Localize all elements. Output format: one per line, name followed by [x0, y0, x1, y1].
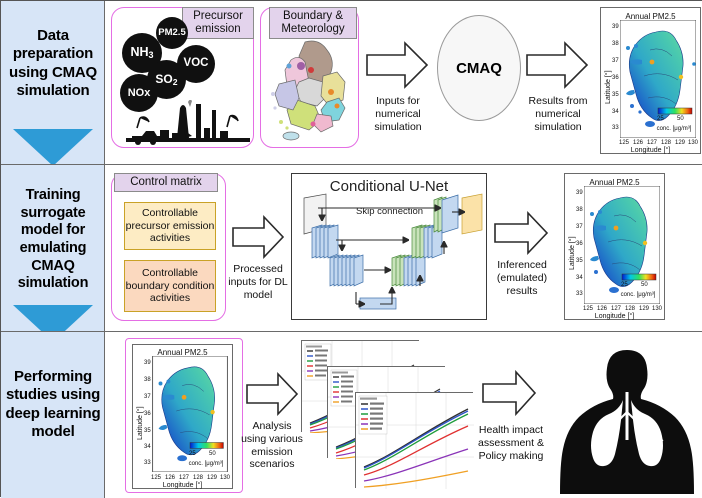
arrow-processed-inputs — [231, 215, 285, 259]
pm25-map-chart-row2: Annual PM2.5 concentration Latitude [°] … — [564, 173, 665, 320]
x-tick: 129 — [207, 475, 217, 481]
workflow-figure: Data preparation using CMAQ simulation P… — [0, 0, 702, 497]
row-performing-studies: Performing studies using deep learning m… — [1, 331, 702, 498]
colorbar-caption: conc. [μg/m³] — [183, 461, 229, 467]
control-box-precursor-label: Controllable precursor emission activiti… — [125, 207, 215, 245]
arrow-inferenced-results — [493, 211, 549, 255]
pm25-map-chart-row1: Annual PM2.5 concentration Latitude [°] … — [600, 7, 701, 154]
y-tick: 34 — [144, 444, 151, 450]
colorbar-tick: 50 — [641, 282, 648, 288]
stage-2-label: Training surrogate model for emulating C… — [1, 187, 105, 293]
y-tick: 33 — [576, 291, 583, 297]
arrow-results-from-cmaq — [525, 41, 589, 89]
y-tick: 39 — [576, 190, 583, 196]
arrow-inputs-label: Inputs for numerical simulation — [357, 95, 439, 133]
stage-column-1: Data preparation using CMAQ simulation — [1, 1, 105, 164]
y-tick: 37 — [144, 394, 151, 400]
x-tick: 129 — [675, 140, 685, 146]
y-tick: 34 — [576, 275, 583, 281]
row-1-content: Precursor emission NH3 PM2.5 VOC SO2 NOx — [105, 1, 702, 164]
stage-1-label: Data preparation using CMAQ simulation — [1, 27, 105, 100]
chart-x-axis-label: Longitude [°] — [565, 313, 664, 320]
stage-arrow-down-1 — [13, 129, 93, 166]
control-box-boundary: Controllable boundary condition activiti… — [124, 260, 216, 312]
x-tick: 126 — [633, 140, 643, 146]
conditional-unet-panel: Conditional U-Net Skip connection — [291, 173, 487, 320]
x-tick: 130 — [652, 306, 662, 312]
row-3-content: Annual PM2.5 concentration Latitude [°] … — [105, 332, 702, 498]
x-tick: 125 — [619, 140, 629, 146]
colorbar-caption: conc. [μg/m³] — [615, 292, 661, 298]
arrow-analysis-scenarios — [245, 372, 299, 416]
scenario-lines-front — [356, 393, 474, 489]
human-lungs-silhouette-icon — [557, 344, 697, 494]
y-tick: 39 — [612, 24, 619, 30]
chart-y-axis-label: Latitude [°] — [605, 70, 612, 104]
stage-column-2: Training surrogate model for emulating C… — [1, 165, 105, 331]
y-tick: 33 — [612, 125, 619, 131]
arrow-inputs-to-cmaq — [365, 41, 429, 89]
chart-x-axis-label: Longitude [°] — [601, 147, 700, 154]
chart-y-axis-label: Latitude [°] — [137, 406, 144, 440]
arrow-analysis-label: Analysis using various emission scenario… — [239, 420, 305, 471]
cmaq-model-node: CMAQ — [437, 15, 521, 121]
species-label-pm25: PM2.5 — [158, 28, 185, 38]
control-matrix-panel: Control matrix Controllable precursor em… — [111, 173, 226, 321]
y-tick: 33 — [144, 460, 151, 466]
row-data-preparation: Data preparation using CMAQ simulation P… — [1, 1, 702, 164]
y-tick: 37 — [612, 58, 619, 64]
species-label-nox: NOx — [128, 88, 151, 99]
x-tick: 127 — [611, 306, 621, 312]
y-tick: 35 — [612, 92, 619, 98]
x-tick: 127 — [179, 475, 189, 481]
species-bubble-pm25: PM2.5 — [156, 17, 188, 49]
species-label-voc: VOC — [184, 58, 209, 70]
colorbar-tick: 25 — [621, 282, 628, 288]
y-tick: 36 — [576, 241, 583, 247]
chart-y-axis-label: Latitude [°] — [569, 236, 576, 270]
boundary-meteorology-tag: Boundary & Meteorology — [269, 7, 357, 39]
x-tick: 128 — [661, 140, 671, 146]
colorbar-tick: 50 — [677, 116, 684, 122]
species-label-nh3: NH3 — [130, 46, 153, 60]
arrow-health-impact-label: Health impact assessment & Policy making — [475, 424, 547, 462]
colorbar-tick: 25 — [189, 451, 196, 457]
arrow-inferenced-results-label: Inferenced (emulated) results — [487, 259, 557, 297]
x-tick: 127 — [647, 140, 657, 146]
y-tick: 35 — [144, 428, 151, 434]
arrow-health-impact — [481, 370, 537, 416]
stage-3-label: Performing studies using deep learning m… — [1, 368, 105, 441]
y-tick: 34 — [612, 109, 619, 115]
control-matrix-tag: Control matrix — [114, 173, 218, 192]
industry-silhouette-icon — [126, 100, 250, 146]
korea-admin-region-map — [265, 36, 355, 144]
arrow-results-label: Results from numerical simulation — [517, 95, 599, 133]
x-tick: 126 — [597, 306, 607, 312]
precursor-emission-panel: Precursor emission NH3 PM2.5 VOC SO2 NOx — [111, 7, 254, 148]
species-label-so2: SO2 — [155, 73, 177, 87]
y-tick: 39 — [144, 360, 151, 366]
y-tick: 35 — [576, 258, 583, 264]
scenario-chart-front — [355, 392, 473, 488]
row-training-surrogate: Training surrogate model for emulating C… — [1, 164, 702, 331]
y-tick: 36 — [612, 75, 619, 81]
precursor-emission-tag: Precursor emission — [182, 7, 254, 39]
x-tick: 125 — [151, 475, 161, 481]
x-tick: 130 — [688, 140, 698, 146]
x-tick: 128 — [625, 306, 635, 312]
arrow-processed-inputs-label: Processed inputs for DL model — [227, 263, 289, 301]
pm25-map-panel-row3: Annual PM2.5 concentration Latitude [°] … — [125, 338, 243, 493]
stage-column-3: Performing studies using deep learning m… — [1, 332, 105, 498]
control-box-precursor: Controllable precursor emission activiti… — [124, 202, 216, 250]
x-tick: 129 — [639, 306, 649, 312]
control-box-boundary-label: Controllable boundary condition activiti… — [125, 267, 215, 305]
x-tick: 126 — [165, 475, 175, 481]
chart-x-axis-label: Longitude [°] — [133, 482, 232, 489]
x-tick: 128 — [193, 475, 203, 481]
colorbar-caption: conc. [μg/m³] — [651, 126, 697, 132]
unet-architecture-diagram — [292, 192, 488, 320]
x-tick: 125 — [583, 306, 593, 312]
y-tick: 38 — [612, 41, 619, 47]
x-tick: 130 — [220, 475, 230, 481]
colorbar-tick: 50 — [209, 451, 216, 457]
boundary-meteorology-panel: Boundary & Meteorology — [260, 7, 359, 148]
row-2-content: Control matrix Controllable precursor em… — [105, 165, 702, 331]
y-tick: 38 — [144, 377, 151, 383]
y-tick: 37 — [576, 224, 583, 230]
y-tick: 36 — [144, 411, 151, 417]
pm25-map-chart-row3: Annual PM2.5 concentration Latitude [°] … — [132, 344, 233, 489]
cmaq-model-label: CMAQ — [456, 60, 502, 77]
colorbar-tick: 25 — [657, 116, 664, 122]
y-tick: 38 — [576, 207, 583, 213]
